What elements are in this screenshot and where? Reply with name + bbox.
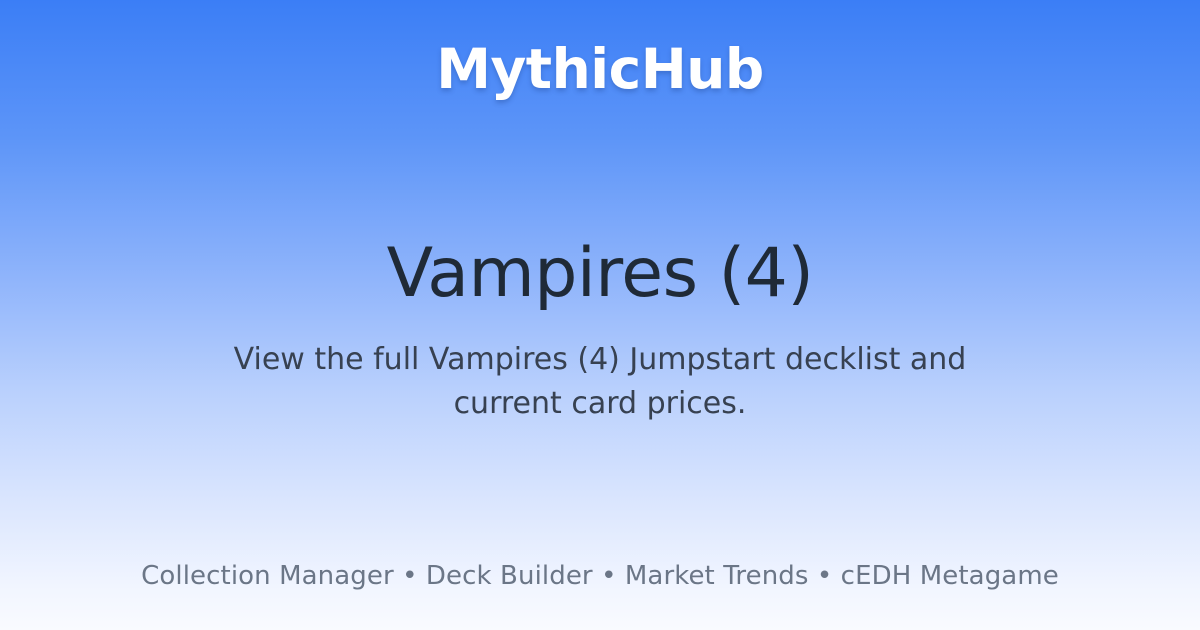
page-subtitle: View the full Vampires (4) Jumpstart dec… bbox=[215, 338, 985, 425]
footer-feature-list: Collection Manager • Deck Builder • Mark… bbox=[0, 561, 1200, 592]
open-graph-card: MythicHub Vampires (4) View the full Vam… bbox=[0, 0, 1200, 630]
page-title: Vampires (4) bbox=[387, 236, 814, 312]
brand-wordmark: MythicHub bbox=[436, 42, 764, 97]
hero-block: Vampires (4) View the full Vampires (4) … bbox=[0, 236, 1200, 425]
